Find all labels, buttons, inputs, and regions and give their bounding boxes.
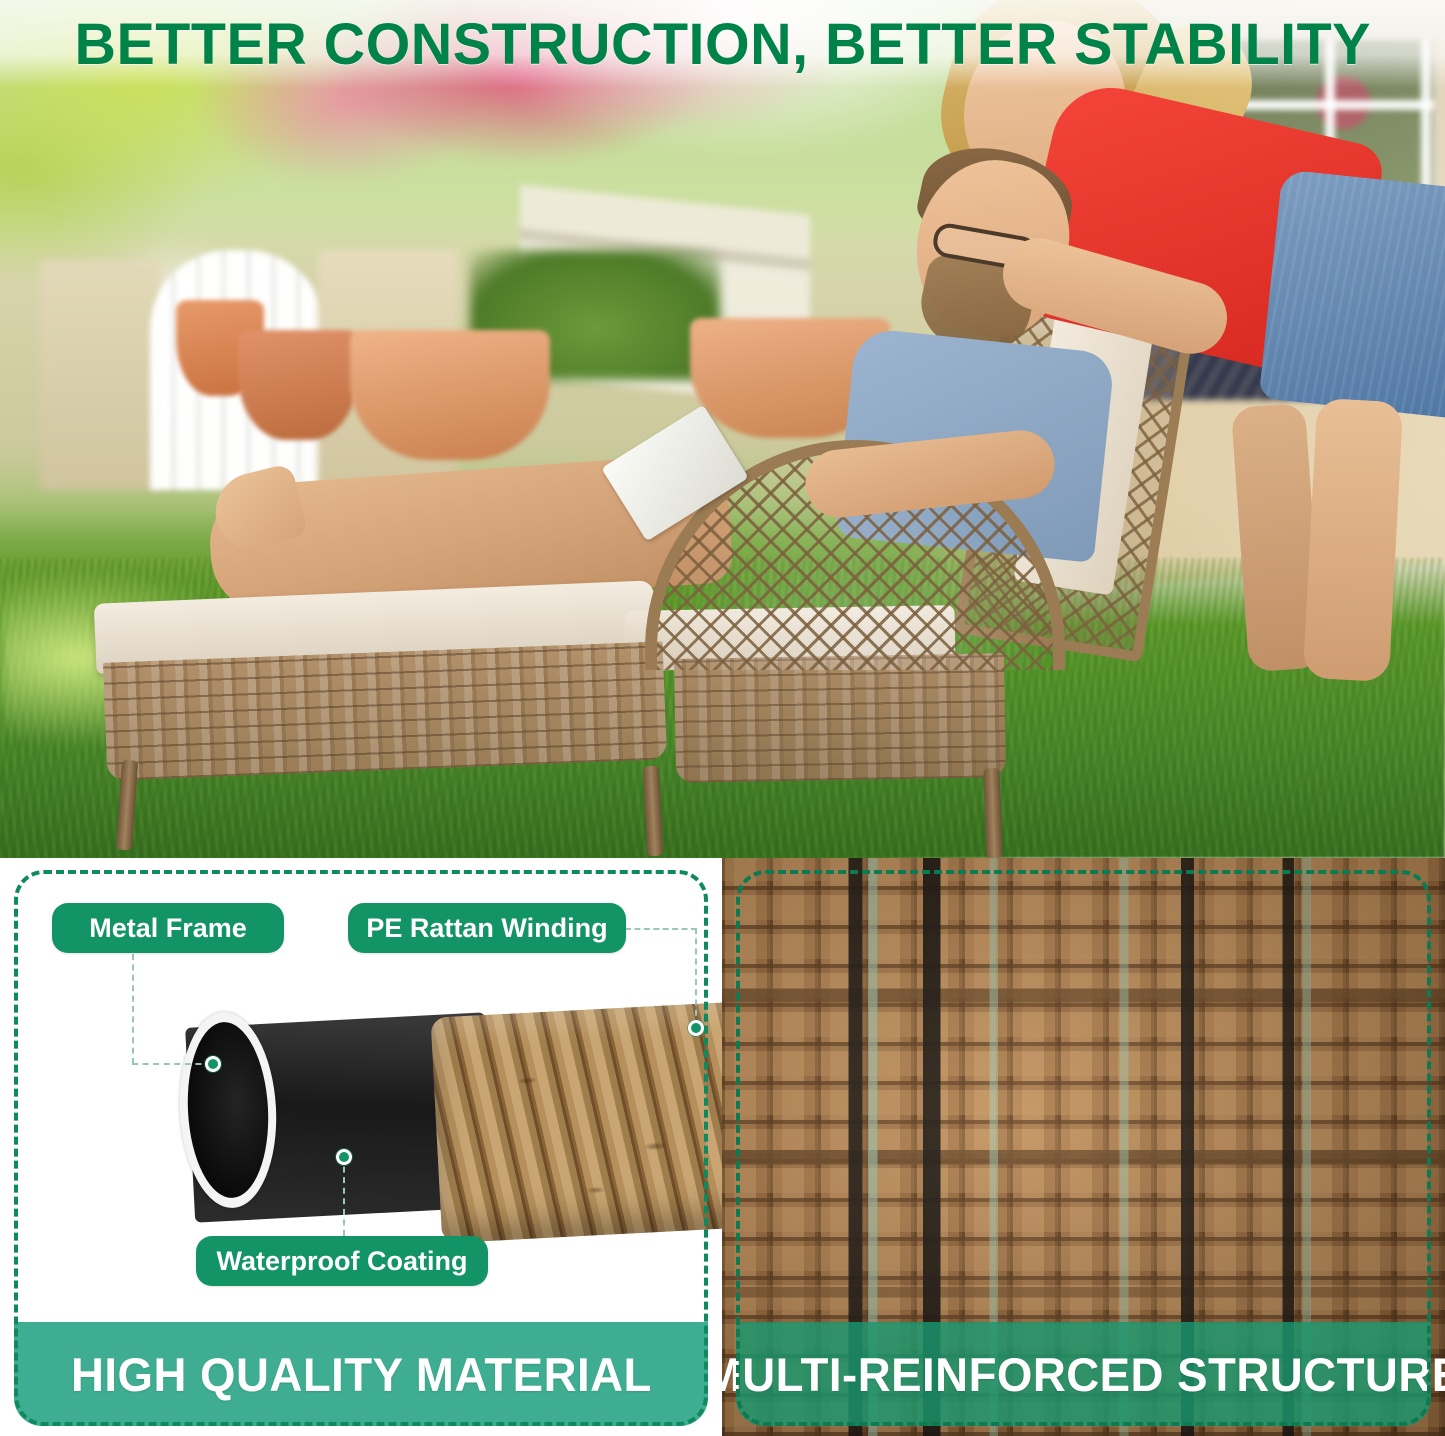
woven-base-front	[103, 641, 667, 780]
chaise-leg	[983, 768, 1002, 858]
panel-high-quality-material: Metal Frame PE Rattan Winding Waterproof…	[0, 858, 722, 1436]
hero-image	[0, 0, 1445, 858]
chaise-lounge	[85, 560, 1165, 840]
page-title: BETTER CONSTRUCTION, BETTER STABILITY	[74, 11, 1370, 78]
panel-multi-reinforced-structure: MULTI-REINFORCED STRUCTURE	[722, 858, 1445, 1436]
panel-dashed-border	[14, 870, 708, 1426]
panel-dashed-border	[736, 870, 1431, 1426]
headline-banner: BETTER CONSTRUCTION, BETTER STABILITY	[0, 0, 1445, 88]
chaise-leg	[643, 766, 664, 857]
woman-leg	[1303, 398, 1404, 682]
feature-panels: Metal Frame PE Rattan Winding Waterproof…	[0, 858, 1445, 1436]
stucco-wall-left	[40, 260, 160, 490]
terracotta-pot	[350, 330, 550, 460]
woven-base-rear	[674, 653, 1006, 783]
terracotta-pot	[238, 330, 358, 440]
woman-denim-shorts	[1259, 169, 1445, 421]
